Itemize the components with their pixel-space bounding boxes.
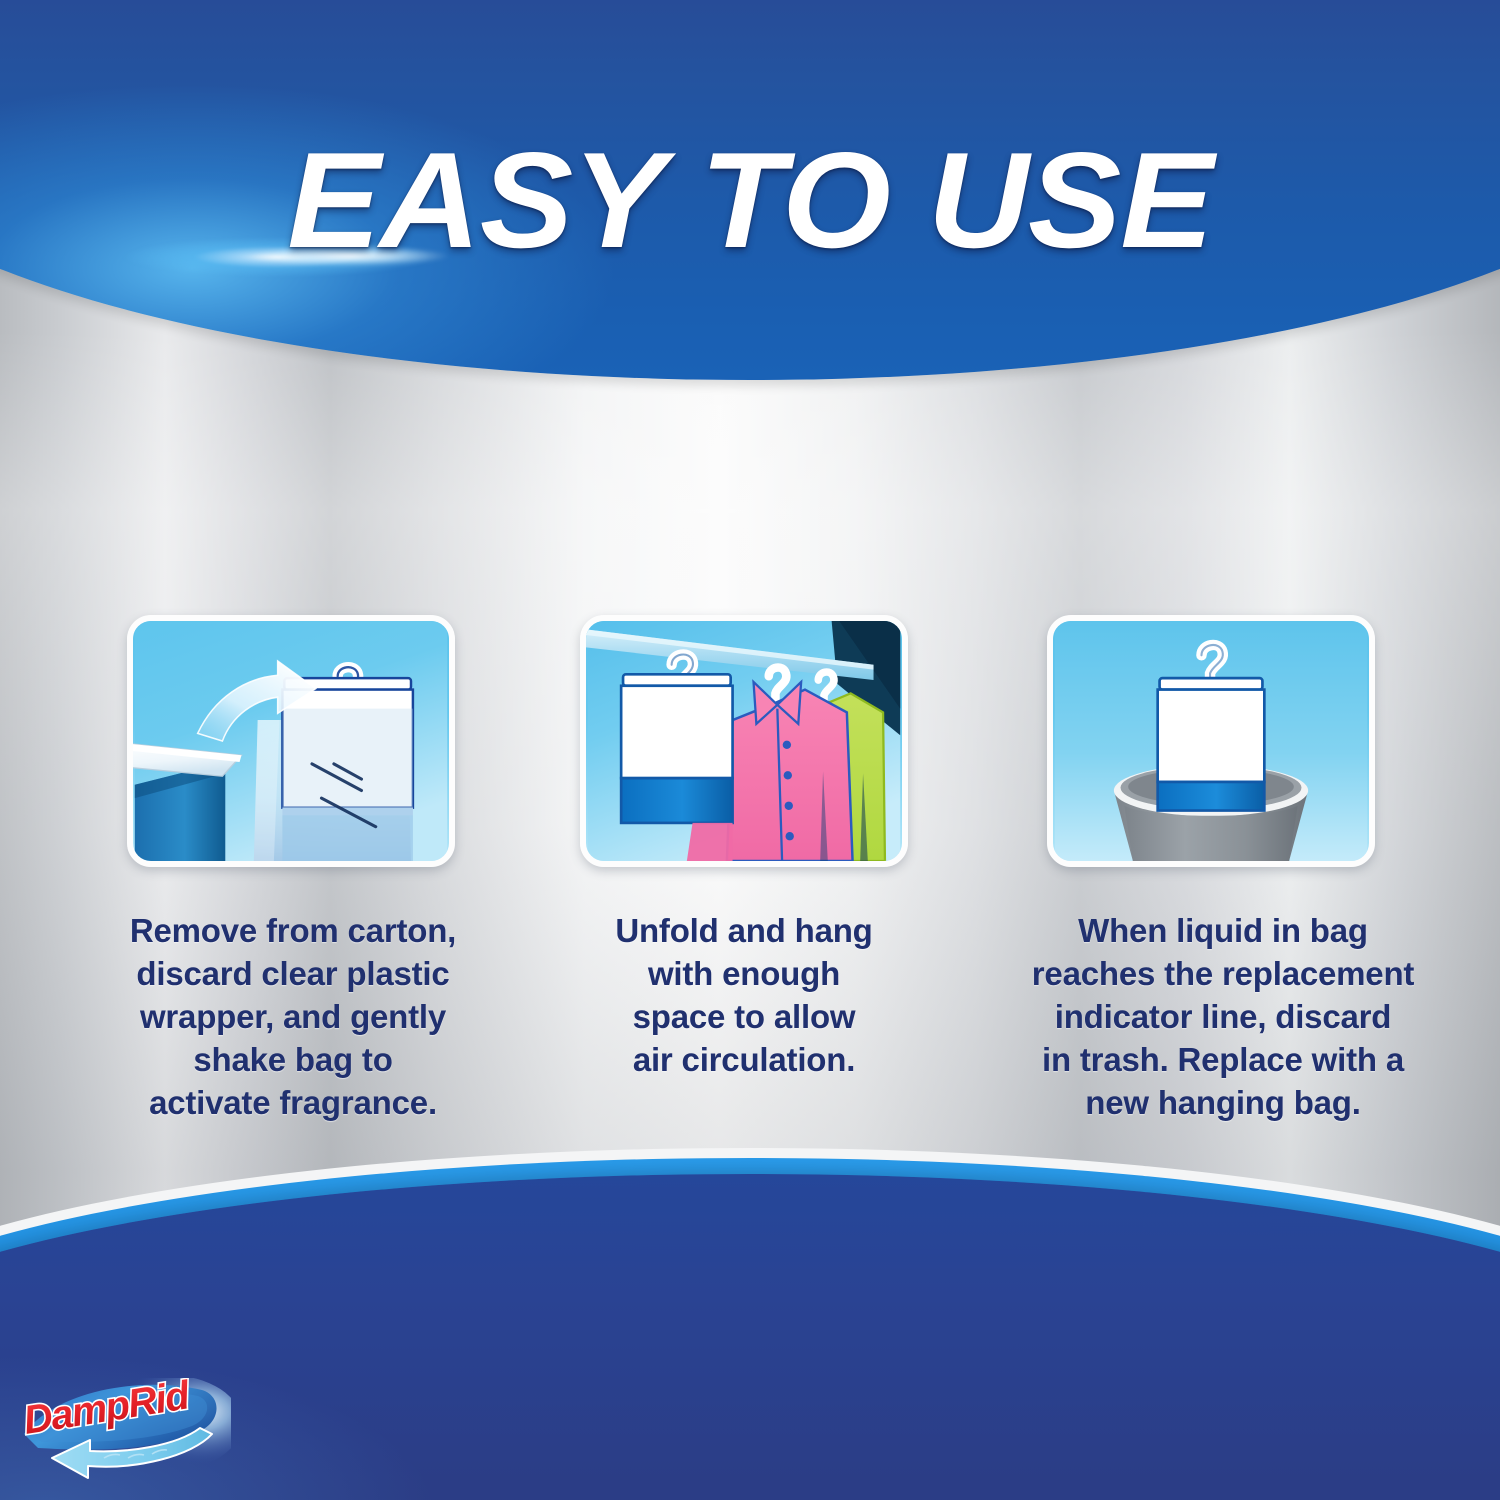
hang-in-closet-icon [586,621,902,861]
caption-line: activate fragrance. [73,1082,513,1125]
caption-line: air circulation. [558,1039,930,1082]
caption-line: wrapper, and gently [73,996,513,1039]
step-1-caption: Remove from carton, discard clear plasti… [73,910,513,1124]
caption-line: discard clear plastic [73,953,513,996]
product-infographic: EASY TO USE [0,0,1500,1500]
caption-line: in trash. Replace with a [988,1039,1458,1082]
caption-line: with enough [558,953,930,996]
step-2-caption: Unfold and hang with enough space to all… [558,910,930,1082]
caption-line: Unfold and hang [558,910,930,953]
step-3-caption: When liquid in bag reaches the replaceme… [988,910,1458,1124]
caption-line: reaches the replacement [988,953,1458,996]
caption-line: space to allow [558,996,930,1039]
damprid-logo: DampRid [16,1378,231,1496]
step-1-illustration [127,615,455,867]
remove-from-carton-icon [133,621,449,861]
caption-line: When liquid in bag [988,910,1458,953]
discard-in-trash-icon [1053,621,1369,861]
step-2-illustration [580,615,908,867]
caption-line: shake bag to [73,1039,513,1082]
caption-line: indicator line, discard [988,996,1458,1039]
caption-line: Remove from carton, [73,910,513,953]
page-title: EASY TO USE [0,122,1500,278]
step-3-illustration [1047,615,1375,867]
caption-line: new hanging bag. [988,1082,1458,1125]
